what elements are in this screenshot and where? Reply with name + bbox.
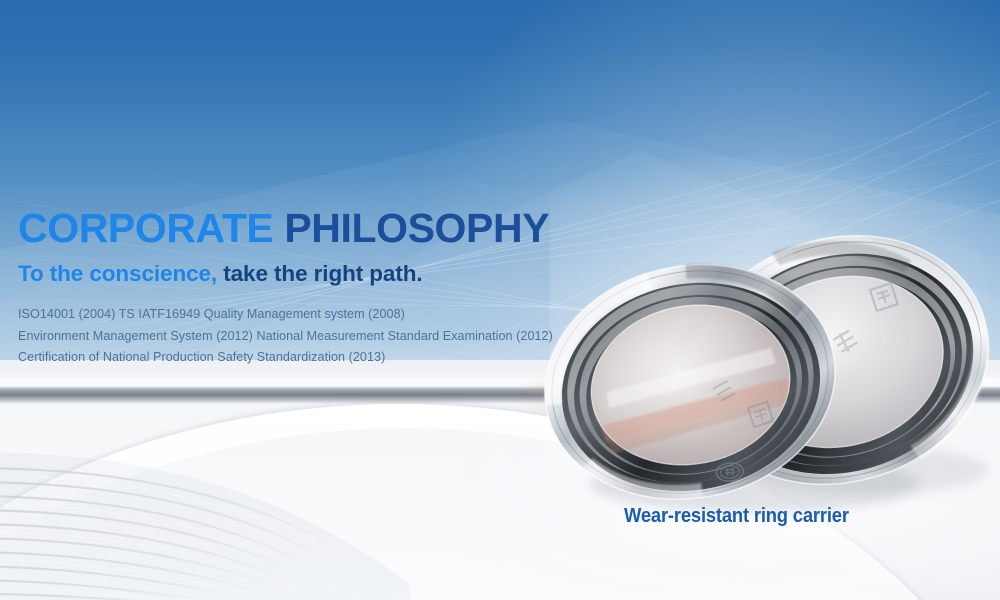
corporate-philosophy-banner: CORPORATE PHILOSOPHY To the conscience, …: [0, 0, 1000, 600]
headline-word-philosophy: PHILOSOPHY: [284, 205, 549, 251]
subtitle-part-two: take the right path.: [223, 261, 422, 286]
headline-word-corporate: CORPORATE: [18, 205, 273, 251]
page-title: CORPORATE PHILOSOPHY: [18, 206, 638, 250]
certification-list: ISO14001 (2004) TS IATF16949 Quality Man…: [18, 304, 638, 369]
product-caption: Wear-resistant ring carrier: [624, 505, 849, 528]
subtitle-part-one: To the conscience,: [18, 261, 217, 286]
certification-item: Certification of National Production Saf…: [18, 347, 638, 369]
page-subtitle: To the conscience, take the right path.: [18, 261, 638, 287]
certification-item: ISO14001 (2004) TS IATF16949 Quality Man…: [18, 304, 638, 326]
text-content-block: CORPORATE PHILOSOPHY To the conscience, …: [18, 206, 638, 369]
certification-item: Environment Management System (2012) Nat…: [18, 326, 638, 348]
